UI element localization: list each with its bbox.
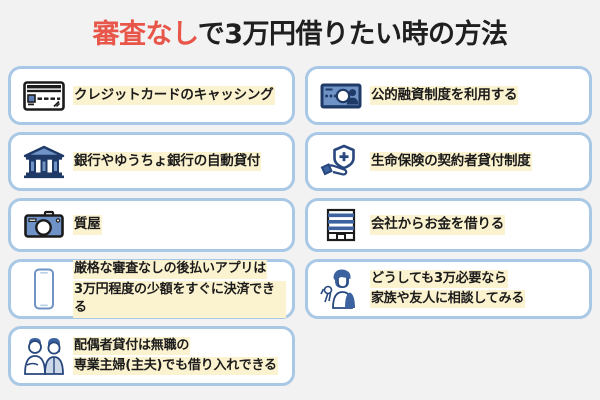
person-phone-icon [318, 267, 364, 311]
card-credit-card-cashing[interactable]: クレジットカードのキャッシング [8, 66, 295, 125]
card-bank-auto-loan[interactable]: 銀行やゆうちょ銀行の自動貸付 [8, 132, 295, 191]
card-label: 生命保険の契約者貸付制度 [370, 152, 532, 171]
card-borrow-from-company[interactable]: 会社からお金を借りる [305, 198, 592, 252]
camera-icon [21, 203, 67, 247]
card-grid: クレジットカードのキャッシング 公的融資制度を利用する [8, 66, 592, 386]
card-label: 公的融資制度を利用する [370, 86, 518, 105]
page-title: 審査なしで3万円借りたい時の方法 [0, 12, 600, 51]
card-pawn-shop[interactable]: 質屋 [8, 198, 295, 252]
card-label: クレジットカードのキャッシング [73, 86, 275, 105]
card-label: 配偶者貸付は無職の専業主婦(主夫)でも借り入れできる [73, 337, 278, 376]
page-title-accent: 審査なし [93, 19, 198, 50]
credit-card-icon [21, 74, 67, 118]
page-title-rest: で3万円借りたい時の方法 [198, 19, 508, 50]
card-ask-family-friends[interactable]: どうしても3万必要なら家族や友人に相談してみる [305, 259, 592, 319]
infographic-page: 審査なしで3万円借りたい時の方法 クレジ [0, 0, 600, 400]
card-label: 会社からお金を借りる [370, 215, 505, 234]
card-deferred-payment-app[interactable]: 厳格な審査なしの後払いアプリは3万円程度の少額をすぐに決済できる [8, 259, 295, 319]
bank-counter-icon [318, 74, 364, 118]
shield-hand-icon [318, 140, 364, 184]
smartphone-icon [21, 267, 67, 311]
card-label: 質屋 [73, 215, 102, 234]
card-public-loan-system[interactable]: 公的融資制度を利用する [305, 66, 592, 125]
card-label: どうしても3万必要なら家族や友人に相談してみる [370, 270, 525, 309]
bank-building-icon [21, 140, 67, 184]
card-life-insurance-policy-loan[interactable]: 生命保険の契約者貸付制度 [305, 132, 592, 191]
card-label: 銀行やゆうちょ銀行の自動貸付 [73, 152, 261, 171]
card-label: 厳格な審査なしの後払いアプリは3万円程度の少額をすぐに決済できる [73, 260, 286, 317]
card-spouse-loan[interactable]: 配偶者貸付は無職の専業主婦(主夫)でも借り入れできる [8, 326, 295, 386]
office-building-icon [318, 203, 364, 247]
couple-icon [21, 334, 67, 378]
